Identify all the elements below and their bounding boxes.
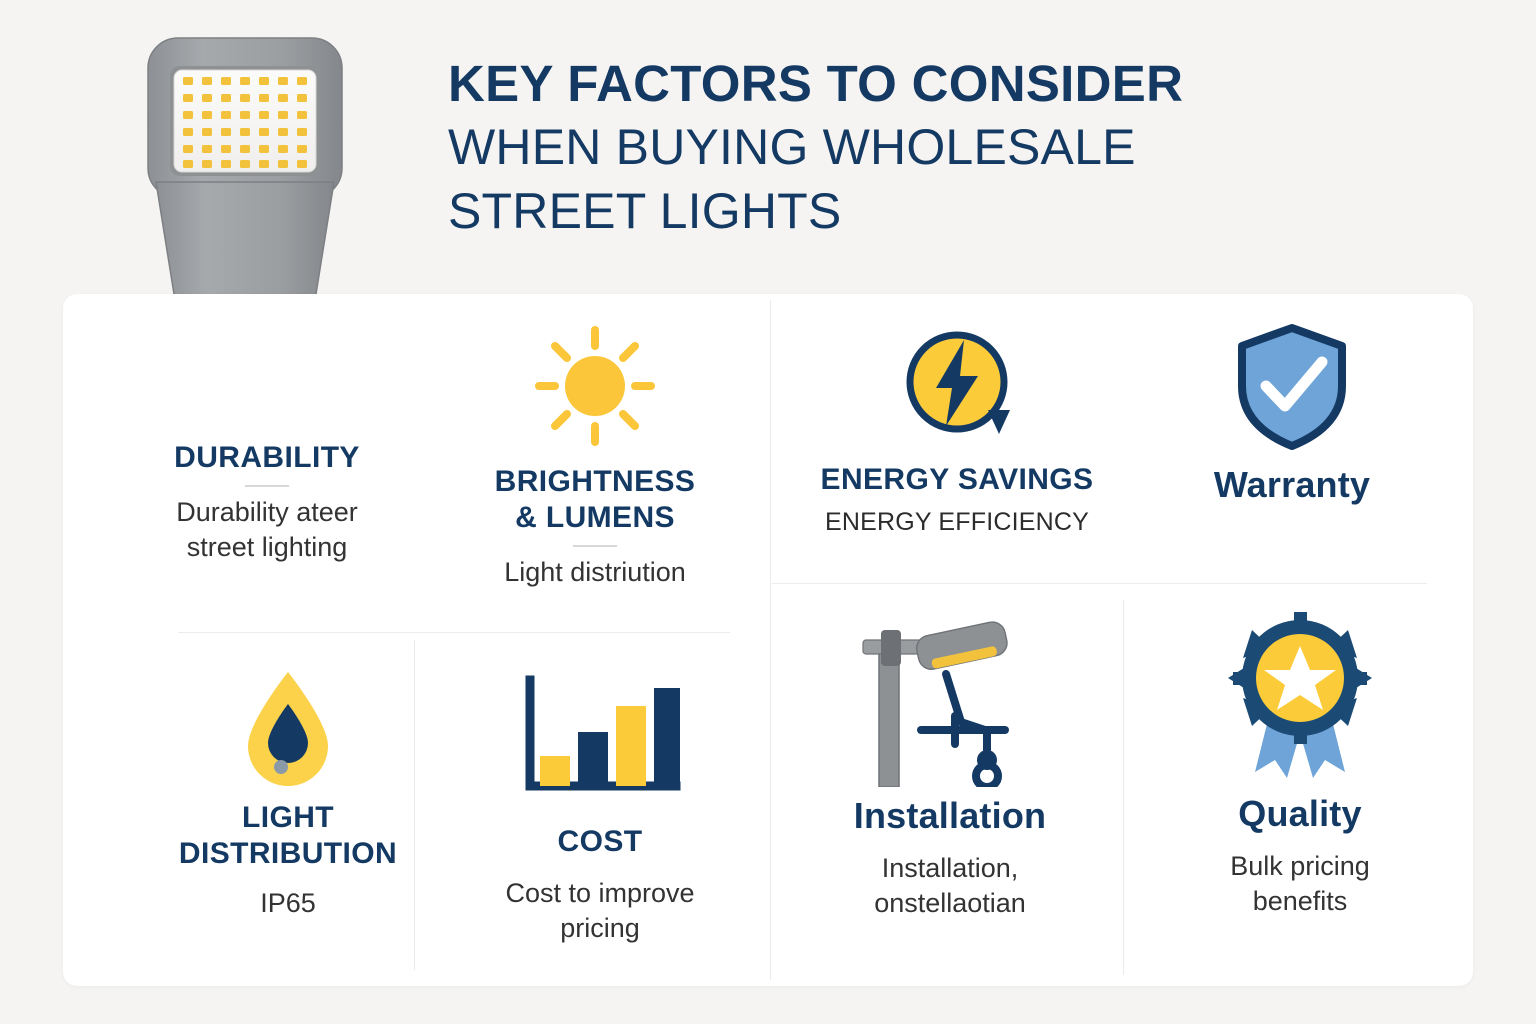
- feature-light-distribution-subtitle: IP65: [118, 886, 458, 921]
- feature-installation[interactable]: Installation Installation, onstellaotian: [790, 612, 1110, 921]
- feature-energy-savings-title: ENERGY SAVINGS: [792, 462, 1122, 498]
- feature-durability[interactable]: DURABILITY Durability ateer street light…: [92, 440, 442, 565]
- title-line-1: KEY FACTORS TO CONSIDER: [448, 52, 1368, 115]
- feature-brightness[interactable]: BRIGHTNESS & LUMENS Light distriution: [430, 322, 760, 590]
- feature-installation-subtitle: Installation, onstellaotian: [790, 851, 1110, 921]
- feature-energy-savings-subtitle: ENERGY EFFICIENCY: [792, 506, 1122, 538]
- icon-container: [790, 612, 1110, 787]
- feature-durability-subtitle: Durability ateer street lighting: [92, 495, 442, 565]
- divider-vertical-center: [770, 300, 771, 980]
- feature-light-distribution[interactable]: LIGHT DISTRIBUTION IP65: [118, 666, 458, 921]
- feature-durability-title: DURABILITY: [92, 440, 442, 476]
- icon-container: [118, 666, 458, 786]
- feature-warranty[interactable]: Warranty: [1132, 322, 1452, 506]
- infographic-canvas: KEY FACTORS TO CONSIDER WHEN BUYING WHOL…: [0, 0, 1536, 1024]
- shield-check-icon: [1230, 322, 1354, 452]
- award-ribbon-icon: [1225, 612, 1375, 787]
- feature-quality-title: Quality: [1150, 793, 1450, 835]
- title-line-2: WHEN BUYING WHOLESALE: [448, 115, 1368, 179]
- feature-quality[interactable]: Quality Bulk pricing benefits: [1150, 612, 1450, 919]
- icon-container: [1132, 322, 1452, 452]
- droplet-icon: [234, 666, 342, 786]
- divider-horizontal-right: [772, 583, 1427, 584]
- energy-bolt-icon: [892, 322, 1022, 452]
- divider-horizontal-left: [178, 632, 730, 633]
- title-line-3: STREET LIGHTS: [448, 179, 1368, 243]
- feature-brightness-subtitle: Light distriution: [430, 555, 760, 590]
- feature-cost-subtitle: Cost to improve pricing: [440, 876, 760, 946]
- title-rule: [245, 485, 289, 487]
- feature-cost-title: COST: [440, 824, 760, 860]
- feature-brightness-title: BRIGHTNESS & LUMENS: [430, 464, 760, 536]
- feature-light-distribution-title: LIGHT DISTRIBUTION: [118, 800, 458, 872]
- feature-quality-subtitle: Bulk pricing benefits: [1150, 849, 1450, 919]
- sun-icon: [531, 322, 659, 450]
- icon-container: [792, 322, 1122, 452]
- page-title: KEY FACTORS TO CONSIDER WHEN BUYING WHOL…: [448, 52, 1368, 243]
- feature-cost[interactable]: COST Cost to improve pricing: [440, 666, 760, 946]
- divider-vertical-right: [1123, 600, 1124, 975]
- feature-energy-savings[interactable]: ENERGY SAVINGS ENERGY EFFICIENCY: [792, 322, 1122, 538]
- icon-container: [430, 322, 760, 450]
- feature-warranty-title: Warranty: [1132, 464, 1452, 506]
- feature-installation-title: Installation: [790, 795, 1110, 837]
- street-light-pole-icon: [835, 612, 1065, 787]
- bar-chart-icon: [510, 666, 690, 806]
- icon-container: [1150, 612, 1450, 787]
- title-rule: [573, 545, 617, 547]
- icon-container: [440, 666, 760, 806]
